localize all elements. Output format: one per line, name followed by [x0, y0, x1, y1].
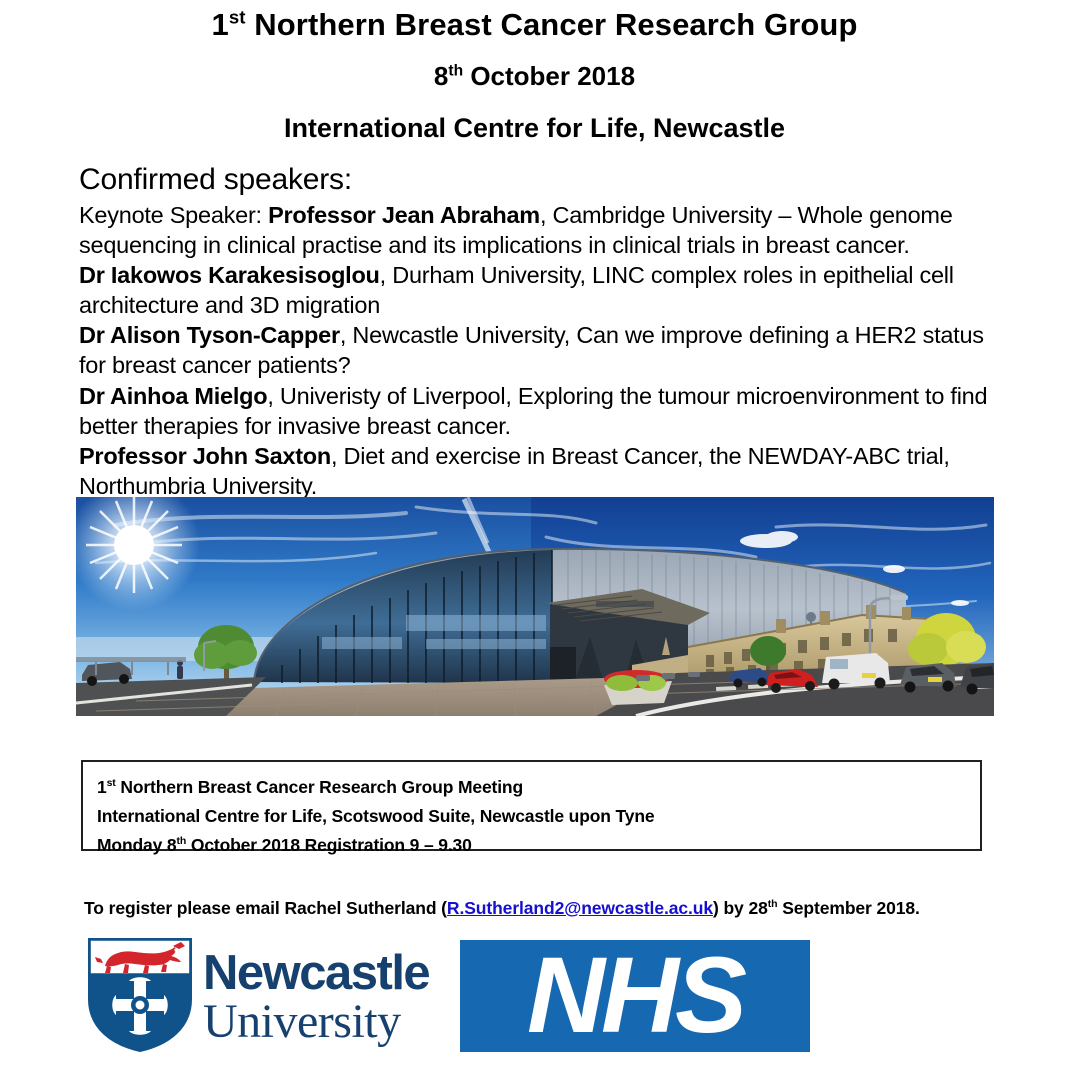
centre-for-life-photo — [76, 497, 994, 716]
nhs-logo-svg: NHS — [460, 940, 810, 1052]
poster-page: 1st Northern Breast Cancer Research Grou… — [0, 0, 1069, 1081]
photo-illustration — [76, 497, 994, 716]
speaker-prefix: Keynote Speaker: — [79, 202, 268, 228]
speaker-entry: Professor John Saxton, Diet and exercise… — [79, 441, 994, 501]
details-line-3-superscript: th — [177, 835, 187, 847]
registration-line: To register please email Rachel Sutherla… — [84, 898, 1004, 919]
event-details-box: 1st Northern Breast Cancer Research Grou… — [81, 760, 982, 851]
speaker-entry: Dr Alison Tyson-Capper, Newcastle Univer… — [79, 320, 994, 380]
title-line-2-pre: 8 — [434, 61, 448, 91]
newcastle-university-logo: Newcastle University — [85, 933, 455, 1055]
title-line-1-pre: 1 — [211, 7, 228, 42]
confirmed-speakers-heading: Confirmed speakers: — [79, 164, 994, 196]
poster-title-line-1: 1st Northern Breast Cancer Research Grou… — [0, 8, 1069, 43]
speakers-list: Keynote Speaker: Professor Jean Abraham,… — [79, 200, 994, 502]
speaker-entry: Dr Ainhoa Mielgo, Univeristy of Liverpoo… — [79, 381, 994, 441]
poster-title-line-2: 8th October 2018 — [0, 62, 1069, 91]
details-line-3-pre: Monday 8 — [97, 835, 177, 855]
event-details-line-2: International Centre for Life, Scotswood… — [97, 805, 980, 828]
details-line-3-post: October 2018 Registration 9 – 9.30 — [186, 835, 472, 855]
poster-title-block: 1st Northern Breast Cancer Research Grou… — [0, 8, 1069, 143]
confirmed-speakers-section: Confirmed speakers: Keynote Speaker: Pro… — [79, 164, 994, 501]
nhs-wordmark: NHS — [527, 940, 746, 1052]
register-post: September 2018. — [777, 898, 919, 918]
speaker-entry: Dr Iakowos Karakesisoglou, Durham Univer… — [79, 260, 994, 320]
speaker-entry: Keynote Speaker: Professor Jean Abraham,… — [79, 200, 994, 260]
event-details-line-1: 1st Northern Breast Cancer Research Grou… — [97, 776, 980, 799]
poster-title-line-3: International Centre for Life, Newcastle — [0, 113, 1069, 143]
details-line-1-post: Northern Breast Cancer Research Group Me… — [116, 777, 523, 797]
register-prefix: To register please email Rachel Sutherla… — [84, 898, 447, 918]
newcastle-wordmark-bottom: University — [203, 995, 401, 1048]
title-line-1-post: Northern Breast Cancer Research Group — [246, 7, 858, 42]
newcastle-university-logo-svg: Newcastle University — [85, 933, 455, 1055]
title-line-2-superscript: th — [448, 62, 463, 79]
speaker-name: Dr Ainhoa Mielgo — [79, 383, 267, 409]
newcastle-wordmark-top: Newcastle — [203, 946, 429, 1000]
speaker-name: Dr Alison Tyson-Capper — [79, 322, 340, 348]
registration-email-link[interactable]: R.Sutherland2@newcastle.ac.uk — [447, 898, 713, 918]
register-mid: ) by 28 — [713, 898, 768, 918]
speaker-name: Professor John Saxton — [79, 443, 331, 469]
speaker-name: Professor Jean Abraham — [268, 202, 540, 228]
logo-row: Newcastle University NHS — [0, 928, 1069, 1068]
event-details-line-3: Monday 8th October 2018 Registration 9 –… — [97, 834, 980, 857]
register-superscript: th — [768, 898, 778, 910]
details-line-1-pre: 1 — [97, 777, 107, 797]
speaker-name: Dr Iakowos Karakesisoglou — [79, 262, 380, 288]
event-details-inner: 1st Northern Breast Cancer Research Grou… — [83, 762, 980, 857]
title-line-2-post: October 2018 — [463, 61, 635, 91]
title-line-1-superscript: st — [229, 7, 246, 28]
nhs-logo: NHS — [460, 940, 810, 1052]
details-line-1-superscript: st — [107, 777, 116, 789]
